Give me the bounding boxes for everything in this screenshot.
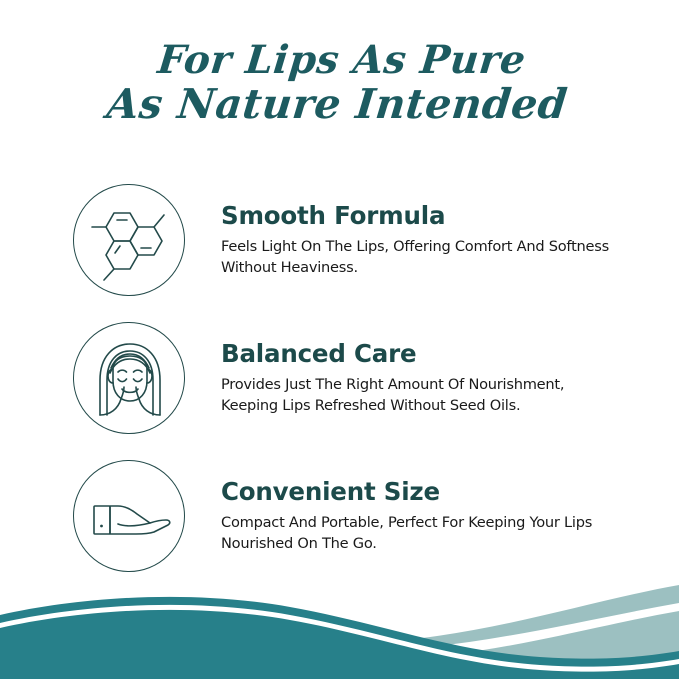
molecule-icon [73,184,185,296]
page-title-line-1: For Lips As Pure [0,38,679,82]
page-title: For Lips As Pure As Nature Intended [0,38,679,126]
feature-title: Balanced Care [221,340,636,368]
feature-description: Provides Just The Right Amount Of Nouris… [221,374,621,416]
face-icon [73,322,185,434]
feature-text: Smooth Formula Feels Light On The Lips, … [221,202,636,278]
open-hand-icon [73,460,185,572]
feature-item: Balanced Care Provides Just The Right Am… [0,322,679,460]
feature-list: Smooth Formula Feels Light On The Lips, … [0,184,679,598]
feature-description: Feels Light On The Lips, Offering Comfor… [221,236,621,278]
feature-text: Convenient Size Compact And Portable, Pe… [221,478,636,554]
promo-page: For Lips As Pure As Nature Intended [0,0,679,679]
feature-item: Smooth Formula Feels Light On The Lips, … [0,184,679,322]
feature-title: Convenient Size [221,478,636,506]
feature-title: Smooth Formula [221,202,636,230]
feature-text: Balanced Care Provides Just The Right Am… [221,340,636,416]
bottom-wave-decoration [0,569,679,679]
page-title-line-2: As Nature Intended [0,82,679,126]
feature-description: Compact And Portable, Perfect For Keepin… [221,512,621,554]
